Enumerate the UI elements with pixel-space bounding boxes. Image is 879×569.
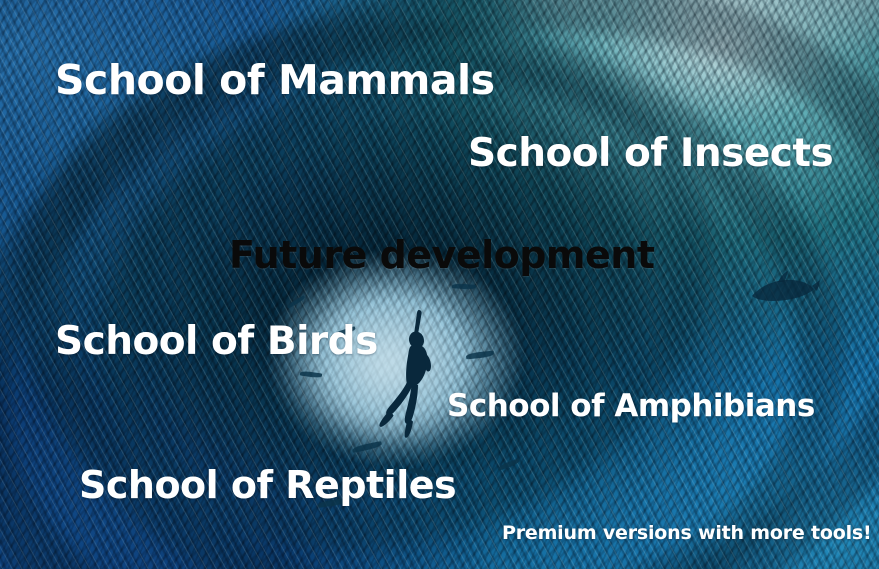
- poster-canvas: School of Mammals School of Insects Futu…: [0, 0, 879, 569]
- label-school-of-amphibians: School of Amphibians: [447, 391, 815, 422]
- label-future-development: Future development: [229, 236, 655, 274]
- label-school-of-insects: School of Insects: [468, 134, 833, 173]
- label-premium-versions: Premium versions with more tools!: [502, 524, 872, 543]
- label-school-of-birds: School of Birds: [55, 322, 378, 361]
- label-school-of-reptiles: School of Reptiles: [79, 466, 456, 504]
- label-school-of-mammals: School of Mammals: [55, 60, 495, 101]
